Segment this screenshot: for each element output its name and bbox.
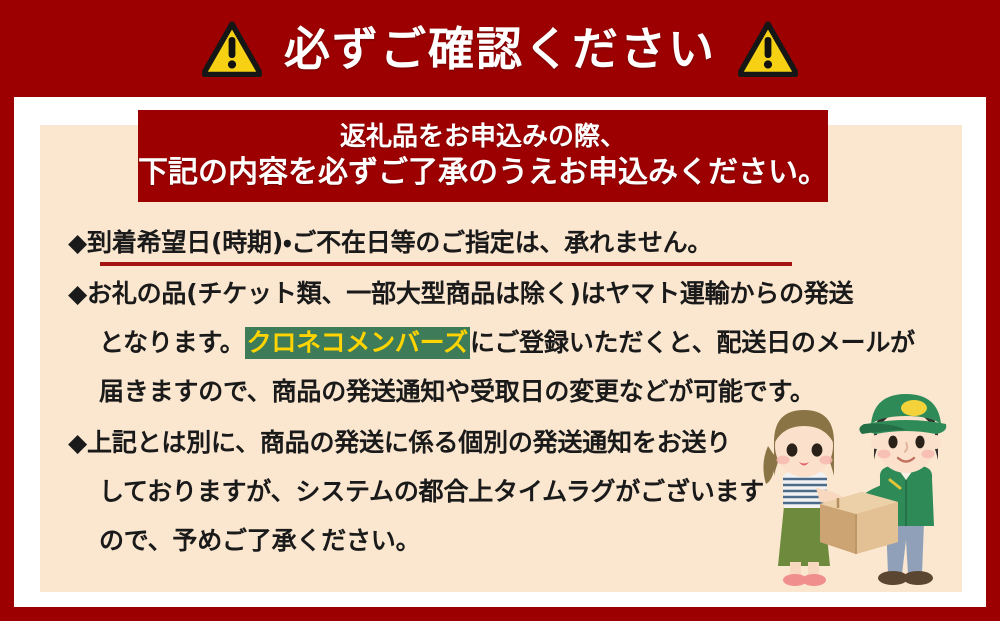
- notes-list: ◆到着希望日(時期)・ご不在日等のご指定は、承れません。 ◆お礼の品(チケット類…: [68, 218, 948, 567]
- warning-triangle-icon: [738, 21, 798, 77]
- warning-triangle-icon: [202, 21, 262, 77]
- page-title: 必ずご確認ください: [284, 26, 716, 72]
- note-underline: [100, 262, 792, 266]
- header-band: 必ずご確認ください: [0, 0, 1000, 97]
- kuroneko-members-highlight[interactable]: クロネコメンバーズ: [245, 327, 470, 359]
- note-item: ◆到着希望日(時期)・ご不在日等のご指定は、承れません。: [68, 218, 948, 267]
- note-line: ◆到着希望日(時期)・ご不在日等のご指定は、承れません。: [68, 218, 948, 267]
- note-line: 届きますので、商品の発送通知や受取日の変更などが可能です。: [68, 367, 948, 416]
- note-text: にご登録いただくと、配送日のメールが: [470, 328, 915, 357]
- note-item: ◆上記とは別に、商品の発送に係る個別の発送通知をお送り しておりますが、システム…: [68, 418, 948, 565]
- note-line: となります。クロネコメンバーズにご登録いただくと、配送日のメールが: [68, 318, 948, 367]
- notice-page: 必ずご確認ください: [0, 0, 1000, 621]
- note-line: ◆お礼の品(チケット類、一部大型商品は除く)はヤマト運輸からの発送: [68, 269, 948, 318]
- note-item: ◆お礼の品(チケット類、一部大型商品は除く)はヤマト運輸からの発送 となります。…: [68, 269, 948, 416]
- note-text: となります。: [99, 328, 245, 357]
- note-line: ◆上記とは別に、商品の発送に係る個別の発送通知をお送り: [68, 418, 948, 467]
- note-line: ので、予めご了承ください。: [68, 516, 948, 565]
- banner-line-2: 下記の内容を必ずご了承のうえお申込みください。: [138, 155, 828, 190]
- banner-line-1: 返礼品をお申込みの際、: [340, 122, 626, 153]
- notice-banner: 返礼品をお申込みの際、 下記の内容を必ずご了承のうえお申込みください。: [138, 110, 828, 202]
- note-line: しておりますが、システムの都合上タイムラグがございます: [68, 467, 948, 516]
